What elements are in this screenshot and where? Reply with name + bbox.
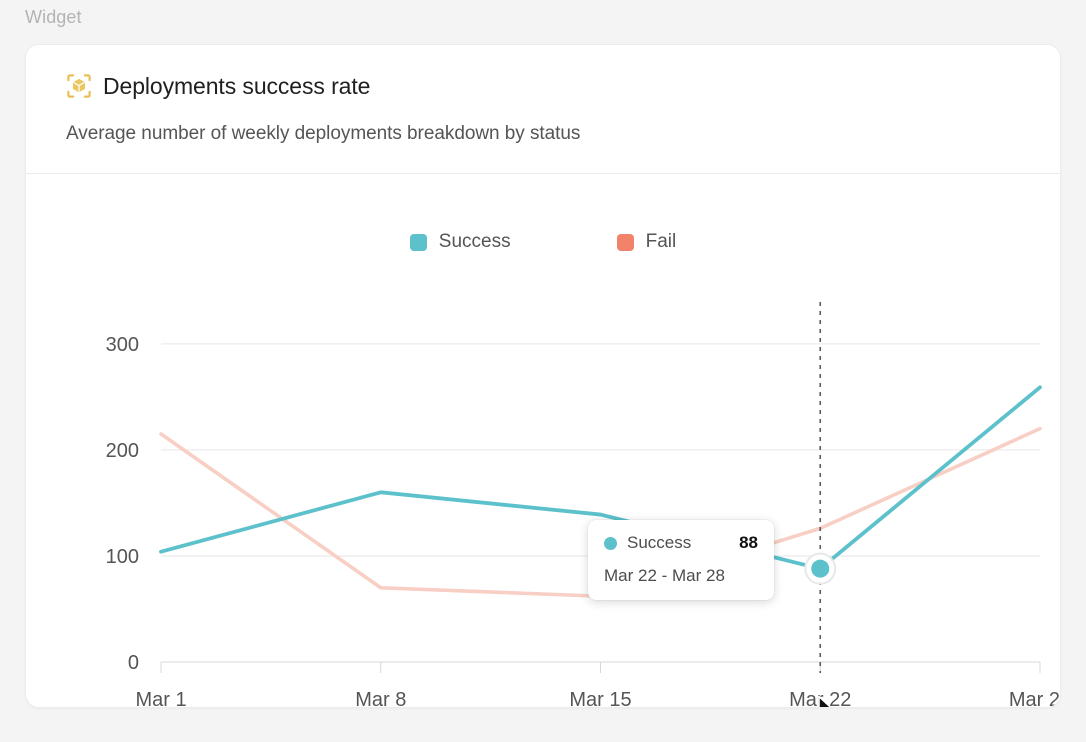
card-title-row: Deployments success rate bbox=[66, 71, 1020, 101]
y-axis-tick-label: 100 bbox=[106, 546, 139, 568]
x-axis-tick-label: Mar 8 bbox=[355, 689, 406, 708]
x-axis-tick-label: Mar 15 bbox=[569, 689, 631, 708]
card-title: Deployments success rate bbox=[103, 75, 370, 98]
widget-card: Deployments success rate Average number … bbox=[25, 44, 1061, 708]
x-axis-tick-label: Mar 1 bbox=[135, 689, 186, 708]
hover-marker-dot[interactable] bbox=[811, 560, 829, 578]
cube-icon bbox=[66, 73, 92, 99]
tooltip-series-value: 88 bbox=[739, 533, 758, 553]
tooltip-series-dot bbox=[604, 537, 617, 550]
card-subtitle: Average number of weekly deployments bre… bbox=[66, 123, 1020, 145]
y-axis-tick-label: 0 bbox=[128, 652, 139, 674]
card-header: Deployments success rate Average number … bbox=[26, 45, 1060, 145]
y-axis-tick-label: 300 bbox=[106, 334, 139, 356]
screen-root: Widget Depl bbox=[0, 0, 1086, 742]
tooltip-series-label: Success bbox=[627, 533, 729, 553]
section-label: Widget bbox=[25, 7, 82, 28]
line-chart-plot[interactable]: 0100200300Mar 1Mar 8Mar 15Mar 22Mar 29 bbox=[26, 174, 1060, 708]
chart-area: Success Fail 0100200300Mar 1Mar 8Mar 15M… bbox=[26, 174, 1060, 708]
y-axis-tick-label: 200 bbox=[106, 440, 139, 462]
x-axis-tick-label: Mar 29 bbox=[1009, 689, 1060, 708]
chart-tooltip: Success 88 Mar 22 - Mar 28 bbox=[588, 520, 774, 600]
x-axis-tick-label: Mar 22 bbox=[789, 689, 851, 708]
tooltip-series-row: Success 88 bbox=[604, 533, 758, 553]
tooltip-date-range: Mar 22 - Mar 28 bbox=[604, 566, 758, 586]
